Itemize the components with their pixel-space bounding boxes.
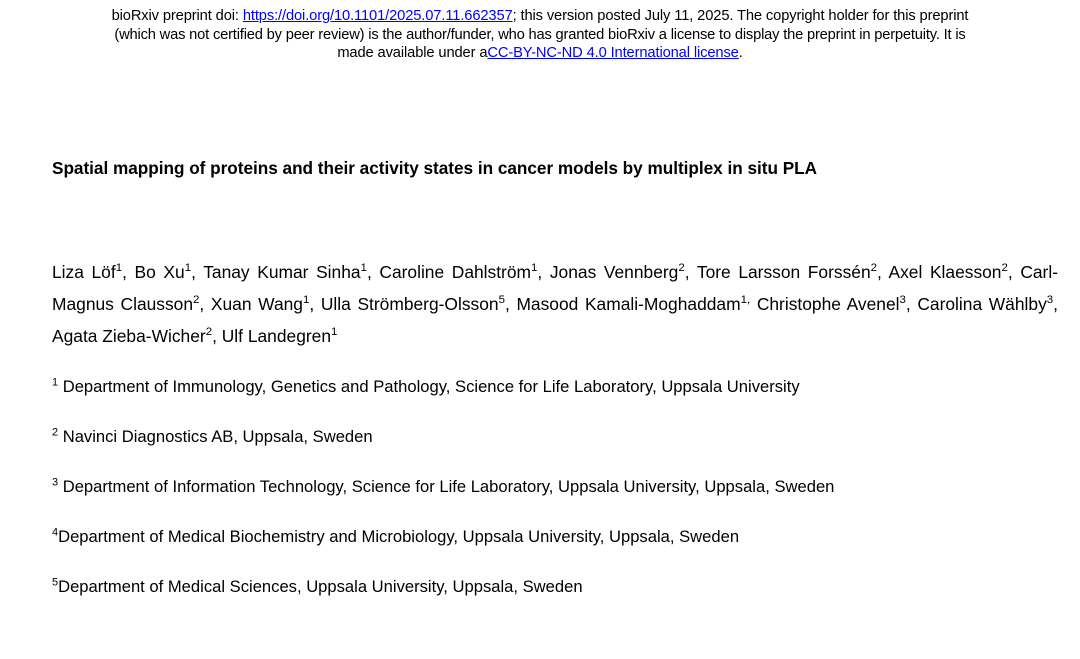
author-list: Liza Löf1, Bo Xu1, Tanay Kumar Sinha1, C… (52, 257, 1058, 352)
banner-line-license: made available under aCC-BY-NC-ND 4.0 In… (0, 44, 1080, 63)
author-entry: Christophe Avenel3, (757, 294, 918, 314)
affiliation-item: 3 Department of Information Technology, … (52, 471, 1058, 503)
author-name: Tanay Kumar Sinha (203, 262, 360, 282)
author-name: Xuan Wang (211, 294, 303, 314)
author-name: Agata Zieba-Wicher (52, 326, 206, 346)
author-separator: , (122, 262, 134, 282)
affiliation-list: 1 Department of Immunology, Genetics and… (52, 371, 1058, 603)
affiliation-text: Department of Immunology, Genetics and P… (58, 377, 800, 396)
author-separator: , (212, 326, 222, 346)
affiliation-item: 5Department of Medical Sciences, Uppsala… (52, 571, 1058, 603)
banner-line-disclaimer: (which was not certified by peer review)… (0, 26, 1080, 45)
author-entry: Axel Klaesson2, (889, 262, 1021, 282)
author-name: Liza Löf (52, 262, 116, 282)
author-separator: , (877, 262, 888, 282)
affiliation-text: Department of Medical Biochemistry and M… (58, 527, 739, 546)
author-affiliation-marker: 1, (741, 294, 751, 306)
author-separator: , (1008, 262, 1020, 282)
author-entry: Bo Xu1, (135, 262, 204, 282)
author-separator: , (685, 262, 697, 282)
author-separator: , (505, 294, 516, 314)
affiliation-item: 2 Navinci Diagnostics AB, Uppsala, Swede… (52, 421, 1058, 453)
author-name: Christophe Avenel (757, 294, 900, 314)
author-name: Ulf Landegren (222, 326, 331, 346)
author-separator: , (537, 262, 549, 282)
author-separator: , (199, 294, 210, 314)
affiliation-text: Navinci Diagnostics AB, Uppsala, Sweden (58, 427, 373, 446)
author-separator: , (367, 262, 379, 282)
author-name: Ulla Strömberg-Olsson (321, 294, 499, 314)
author-name: Tore Larsson Forssén (697, 262, 871, 282)
author-separator: , (191, 262, 203, 282)
author-affiliation-marker: 1 (331, 326, 337, 338)
author-entry: Ulf Landegren1 (222, 326, 338, 346)
author-entry: Carolina Wählby3, (917, 294, 1058, 314)
license-link[interactable]: CC-BY-NC-ND 4.0 International license (487, 45, 738, 61)
author-entry: Caroline Dahlström1, (379, 262, 549, 282)
author-name: Masood Kamali-Moghaddam (516, 294, 740, 314)
author-name: Axel Klaesson (889, 262, 1002, 282)
affiliation-text: Department of Information Technology, Sc… (58, 477, 834, 496)
author-name: Bo Xu (135, 262, 185, 282)
author-entry: Tore Larsson Forssén2, (697, 262, 889, 282)
affiliation-item: 1 Department of Immunology, Genetics and… (52, 371, 1058, 403)
author-name: Jonas Vennberg (550, 262, 678, 282)
banner-posted-date-text: ; this version posted July 11, 2025. The… (513, 8, 969, 24)
doi-link[interactable]: https://doi.org/10.1101/2025.07.11.66235… (243, 8, 513, 24)
biorxiv-preprint-banner: bioRxiv preprint doi: https://doi.org/10… (0, 0, 1080, 63)
author-name: Carolina Wählby (917, 294, 1046, 314)
page-title: Spatial mapping of proteins and their ac… (52, 156, 1058, 180)
affiliation-text: Department of Medical Sciences, Uppsala … (58, 577, 583, 596)
banner-license-suffix-text: . (739, 45, 743, 61)
banner-license-prefix-text: made available under a (337, 45, 487, 61)
author-entry: Tanay Kumar Sinha1, (203, 262, 379, 282)
author-entry: Ulla Strömberg-Olsson5, (321, 294, 517, 314)
author-name: Caroline Dahlström (379, 262, 531, 282)
author-entry: Xuan Wang1, (211, 294, 321, 314)
author-entry: Liza Löf1, (52, 262, 135, 282)
author-separator: , (309, 294, 320, 314)
author-separator (750, 294, 757, 314)
banner-line-doi: bioRxiv preprint doi: https://doi.org/10… (0, 7, 1080, 26)
author-separator: , (1053, 294, 1058, 314)
author-separator: , (906, 294, 917, 314)
author-entry: Jonas Vennberg2, (550, 262, 697, 282)
author-entry: Agata Zieba-Wicher2, (52, 326, 222, 346)
banner-doi-prefix-text: bioRxiv preprint doi: (112, 8, 243, 24)
affiliation-item: 4Department of Medical Biochemistry and … (52, 521, 1058, 553)
author-entry: Masood Kamali-Moghaddam1, (516, 294, 756, 314)
